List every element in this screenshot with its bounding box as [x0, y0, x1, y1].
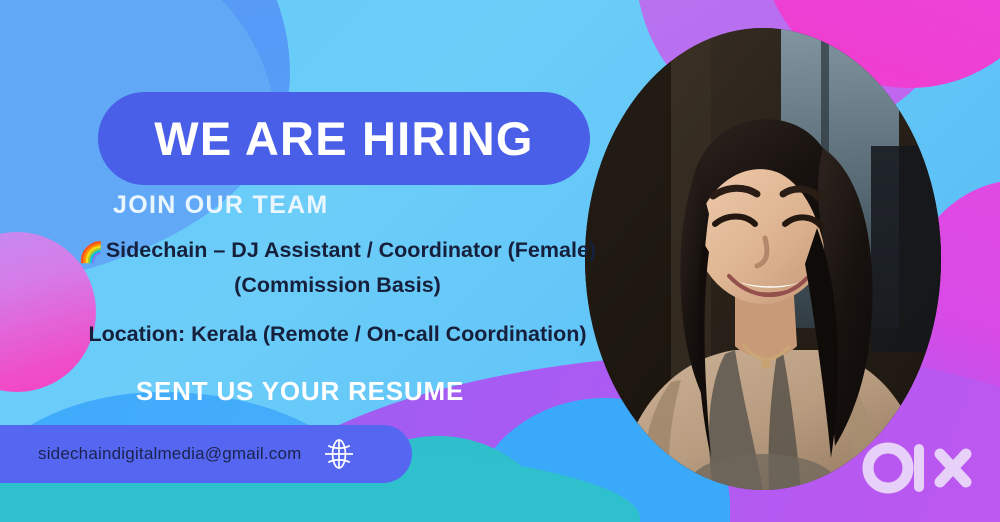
headline-pill: WE ARE HIRING	[98, 92, 590, 185]
role-line-1-wrapper: 🌈Sidechain – DJ Assistant / Coordinator …	[60, 234, 615, 269]
resume-cta: SENT US YOUR RESUME	[60, 376, 540, 407]
subheadline: JOIN OUR TEAM	[113, 191, 329, 220]
role-line-1: Sidechain – DJ Assistant / Coordinator (…	[106, 238, 596, 262]
email-address[interactable]: sidechaindigitalmedia@gmail.com	[38, 444, 301, 464]
rainbow-icon: 🌈	[79, 242, 104, 264]
page-title: WE ARE HIRING	[154, 111, 533, 166]
location-line: Location: Kerala (Remote / On-call Coord…	[60, 322, 615, 347]
contact-bar[interactable]: sidechaindigitalmedia@gmail.com	[0, 425, 412, 483]
globe-icon	[319, 434, 359, 474]
role-description: 🌈Sidechain – DJ Assistant / Coordinator …	[60, 234, 615, 301]
olx-watermark	[862, 437, 974, 499]
candidate-photo	[585, 28, 941, 490]
role-line-2: (Commission Basis)	[60, 269, 615, 301]
hiring-poster: WE ARE HIRING JOIN OUR TEAM 🌈Sidechain –…	[0, 0, 1000, 522]
